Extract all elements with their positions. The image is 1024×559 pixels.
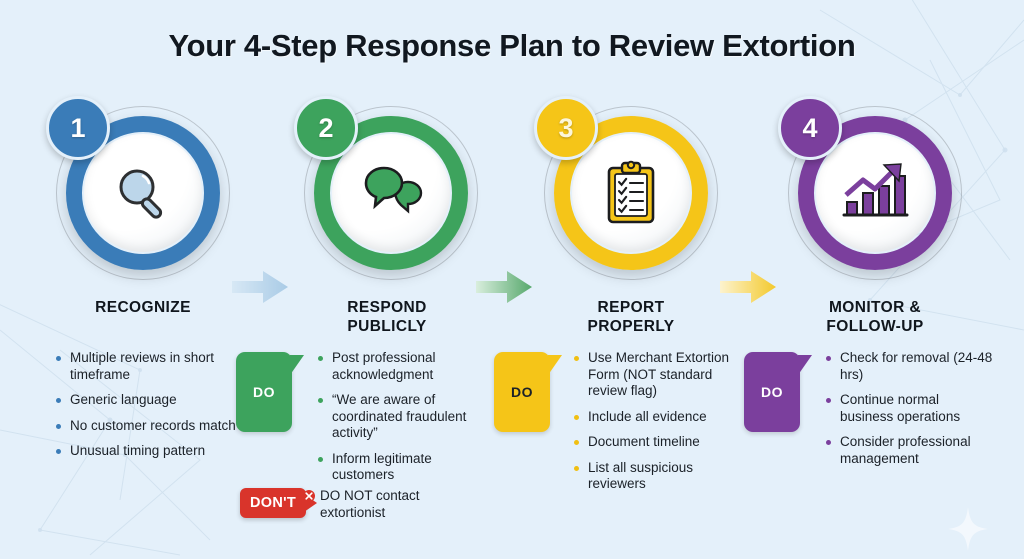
step-2-heading: RESPOND PUBLICLY — [272, 298, 502, 336]
step-4-heading-line-2: FOLLOW-UP — [760, 317, 990, 336]
step-4-heading-line-1: MONITOR & — [760, 298, 990, 317]
step-1-number: 1 — [70, 113, 85, 144]
step-2-number-badge: 2 — [294, 96, 358, 160]
step-2-dont-badge: DON'T — [240, 488, 306, 518]
step-3-heading-line-2: PROPERLY — [516, 317, 746, 336]
step-2-bullet-list: Post professional acknowledgment “We are… — [318, 350, 484, 493]
step-3-number: 3 — [558, 113, 573, 144]
step-4-bullet-list: Check for removal (24-48 hrs) Continue n… — [826, 350, 994, 476]
list-item: Inform legitimate customers — [318, 451, 484, 484]
step-4-do-badge-wrap: DO — [744, 352, 800, 432]
step-3-do-badge-tail — [548, 355, 562, 375]
step-3-heading: REPORT PROPERLY — [516, 298, 746, 336]
step-1-icon-disc — [84, 134, 202, 252]
list-item: Include all evidence — [574, 409, 734, 426]
step-card-2[interactable]: 2 — [296, 98, 486, 288]
circle-x-icon — [302, 489, 316, 503]
growth-bar-chart-icon — [841, 162, 909, 224]
step-card-1[interactable]: 1 — [48, 98, 238, 288]
step-card-4[interactable]: 4 — [780, 98, 970, 288]
infographic-canvas: Your 4-Step Response Plan to Review Exto… — [0, 0, 1024, 559]
step-4-number-badge: 4 — [778, 96, 842, 160]
step-card-3[interactable]: 3 — [536, 98, 726, 288]
step-2-dont-text: DO NOT contact extortionist — [320, 488, 420, 520]
list-item: Continue normal business operations — [826, 392, 994, 425]
step-2-do-badge-tail — [290, 355, 304, 375]
step-1-heading: RECOGNIZE — [28, 298, 258, 317]
list-item: Use Merchant Extortion Form (NOT standar… — [574, 350, 734, 400]
list-item: Post professional acknowledgment — [318, 350, 484, 383]
clipboard-checklist-icon — [602, 160, 660, 226]
step-2-icon-disc — [332, 134, 450, 252]
step-2-number: 2 — [318, 113, 333, 144]
step-4-heading: MONITOR & FOLLOW-UP — [760, 298, 990, 336]
step-3-details: DO Use Merchant Extortion Form (NOT stan… — [494, 345, 734, 559]
step-4-icon-disc — [816, 134, 934, 252]
step-3-heading-line-1: REPORT — [516, 298, 746, 317]
step-details-row: Multiple reviews in short timeframe Gene… — [0, 345, 1024, 559]
step-3-do-badge: DO — [494, 352, 550, 432]
step-3-number-badge: 3 — [534, 96, 598, 160]
step-2-do-badge: DO — [236, 352, 292, 432]
list-item: Document timeline — [574, 434, 734, 451]
list-item: No customer records match — [56, 418, 256, 435]
step-2-dont-text-wrap: DO NOT contact extortionist — [318, 488, 484, 521]
list-item: “We are aware of coordinated fraudulent … — [318, 392, 484, 442]
magnifying-glass-icon — [110, 160, 176, 226]
speech-bubbles-icon — [358, 163, 424, 223]
step-2-details: DO Post professional acknowledgment “We … — [236, 345, 484, 559]
step-4-do-badge-tail — [798, 355, 812, 375]
step-3-icon-disc — [572, 134, 690, 252]
step-4-number: 4 — [802, 113, 817, 144]
list-item: Generic language — [56, 392, 256, 409]
step-4-do-badge: DO — [744, 352, 800, 432]
step-1-bullet-list: Multiple reviews in short timeframe Gene… — [56, 350, 256, 469]
list-item: Consider professional management — [826, 434, 994, 467]
list-item: List all suspicious reviewers — [574, 460, 734, 493]
step-3-bullet-list: Use Merchant Extortion Form (NOT standar… — [574, 350, 734, 502]
step-1-details: Multiple reviews in short timeframe Gene… — [56, 345, 256, 559]
step-headings-row: RECOGNIZE RESPOND PUBLICLY REPORT PROPER… — [0, 298, 1024, 344]
step-2-do-badge-wrap: DO — [236, 352, 292, 432]
list-item: Multiple reviews in short timeframe — [56, 350, 256, 383]
steps-row: 1 2 — [0, 98, 1024, 288]
list-item: Check for removal (24-48 hrs) — [826, 350, 994, 383]
step-2-heading-line-1: RESPOND — [272, 298, 502, 317]
step-3-do-badge-wrap: DO — [494, 352, 550, 432]
list-item: Unusual timing pattern — [56, 443, 256, 460]
page-title: Your 4-Step Response Plan to Review Exto… — [0, 28, 1024, 64]
step-4-details: DO Check for removal (24-48 hrs) Continu… — [744, 345, 994, 559]
step-1-number-badge: 1 — [46, 96, 110, 160]
step-2-heading-line-2: PUBLICLY — [272, 317, 502, 336]
